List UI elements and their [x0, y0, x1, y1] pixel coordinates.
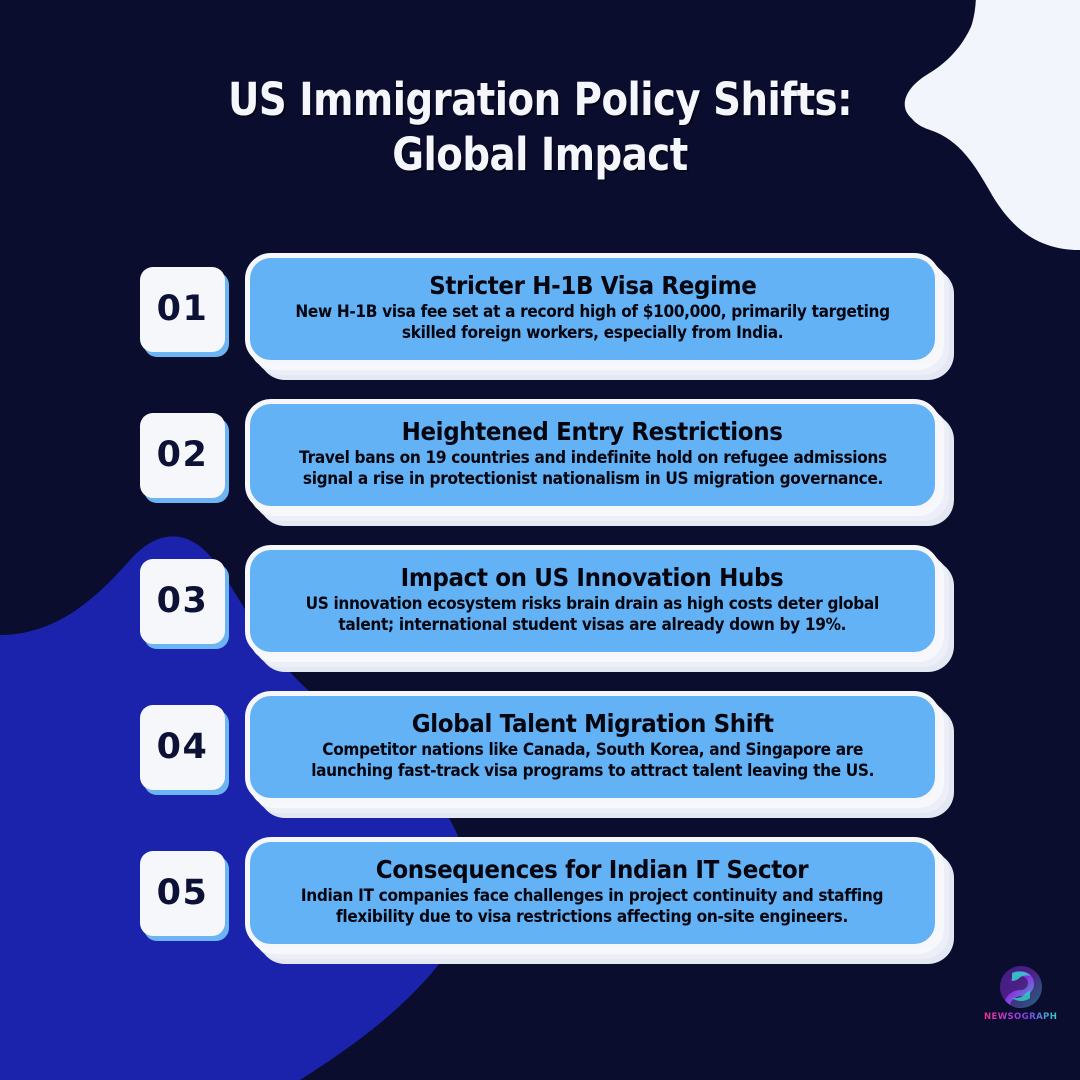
item-description: Competitor nations like Canada, South Ko…	[311, 740, 874, 782]
item-number: 04	[157, 727, 209, 767]
item-card-wrapper: Global Talent Migration Shift Competitor…	[245, 691, 940, 803]
item-number: 03	[157, 581, 209, 621]
item-description: New H-1B visa fee set at a record high o…	[295, 302, 889, 344]
item-description: Indian IT companies face challenges in p…	[301, 886, 883, 928]
item-number-badge: 03	[140, 559, 225, 644]
item-card-wrapper: Stricter H-1B Visa Regime New H-1B visa …	[245, 253, 940, 365]
item-number-badge: 02	[140, 413, 225, 498]
item-number: 02	[157, 435, 209, 475]
item-number: 01	[157, 289, 209, 329]
title-line-1: US Immigration Policy Shifts:	[76, 72, 1005, 127]
item-card-wrapper: Impact on US Innovation Hubs US innovati…	[245, 545, 940, 657]
brand-name: NEWSOGRAPHICS	[984, 1012, 1058, 1022]
title-line-2: Global Impact	[76, 127, 1005, 182]
page-title: US Immigration Policy Shifts: Global Imp…	[0, 72, 1080, 183]
item-number-badge: 05	[140, 851, 225, 936]
item-title: Stricter H-1B Visa Regime	[429, 272, 756, 300]
points-list: 01 Stricter H-1B Visa Regime New H-1B vi…	[0, 253, 1080, 949]
list-item[interactable]: 03 Impact on US Innovation Hubs US innov…	[0, 545, 1080, 657]
list-item[interactable]: 04 Global Talent Migration Shift Competi…	[0, 691, 1080, 803]
item-card[interactable]: Consequences for Indian IT Sector Indian…	[245, 837, 940, 949]
item-number: 05	[157, 873, 209, 913]
item-card-wrapper: Heightened Entry Restrictions Travel ban…	[245, 399, 940, 511]
brand-logo[interactable]: NEWSOGRAPHICS	[982, 964, 1060, 1022]
item-title: Heightened Entry Restrictions	[402, 418, 783, 446]
item-number-badge: 01	[140, 267, 225, 352]
infographic-canvas: US Immigration Policy Shifts: Global Imp…	[0, 0, 1080, 1080]
item-description: US innovation ecosystem risks brain drai…	[306, 594, 879, 636]
list-item[interactable]: 01 Stricter H-1B Visa Regime New H-1B vi…	[0, 253, 1080, 365]
item-title: Consequences for Indian IT Sector	[376, 856, 808, 884]
item-card[interactable]: Stricter H-1B Visa Regime New H-1B visa …	[245, 253, 940, 365]
item-title: Global Talent Migration Shift	[412, 710, 774, 738]
list-item[interactable]: 05 Consequences for Indian IT Sector Ind…	[0, 837, 1080, 949]
item-number-badge: 04	[140, 705, 225, 790]
globe-icon	[998, 964, 1044, 1010]
item-title: Impact on US Innovation Hubs	[401, 564, 784, 592]
list-item[interactable]: 02 Heightened Entry Restrictions Travel …	[0, 399, 1080, 511]
item-card[interactable]: Heightened Entry Restrictions Travel ban…	[245, 399, 940, 511]
item-description: Travel bans on 19 countries and indefini…	[299, 448, 887, 490]
item-card-wrapper: Consequences for Indian IT Sector Indian…	[245, 837, 940, 949]
item-card[interactable]: Impact on US Innovation Hubs US innovati…	[245, 545, 940, 657]
item-card[interactable]: Global Talent Migration Shift Competitor…	[245, 691, 940, 803]
